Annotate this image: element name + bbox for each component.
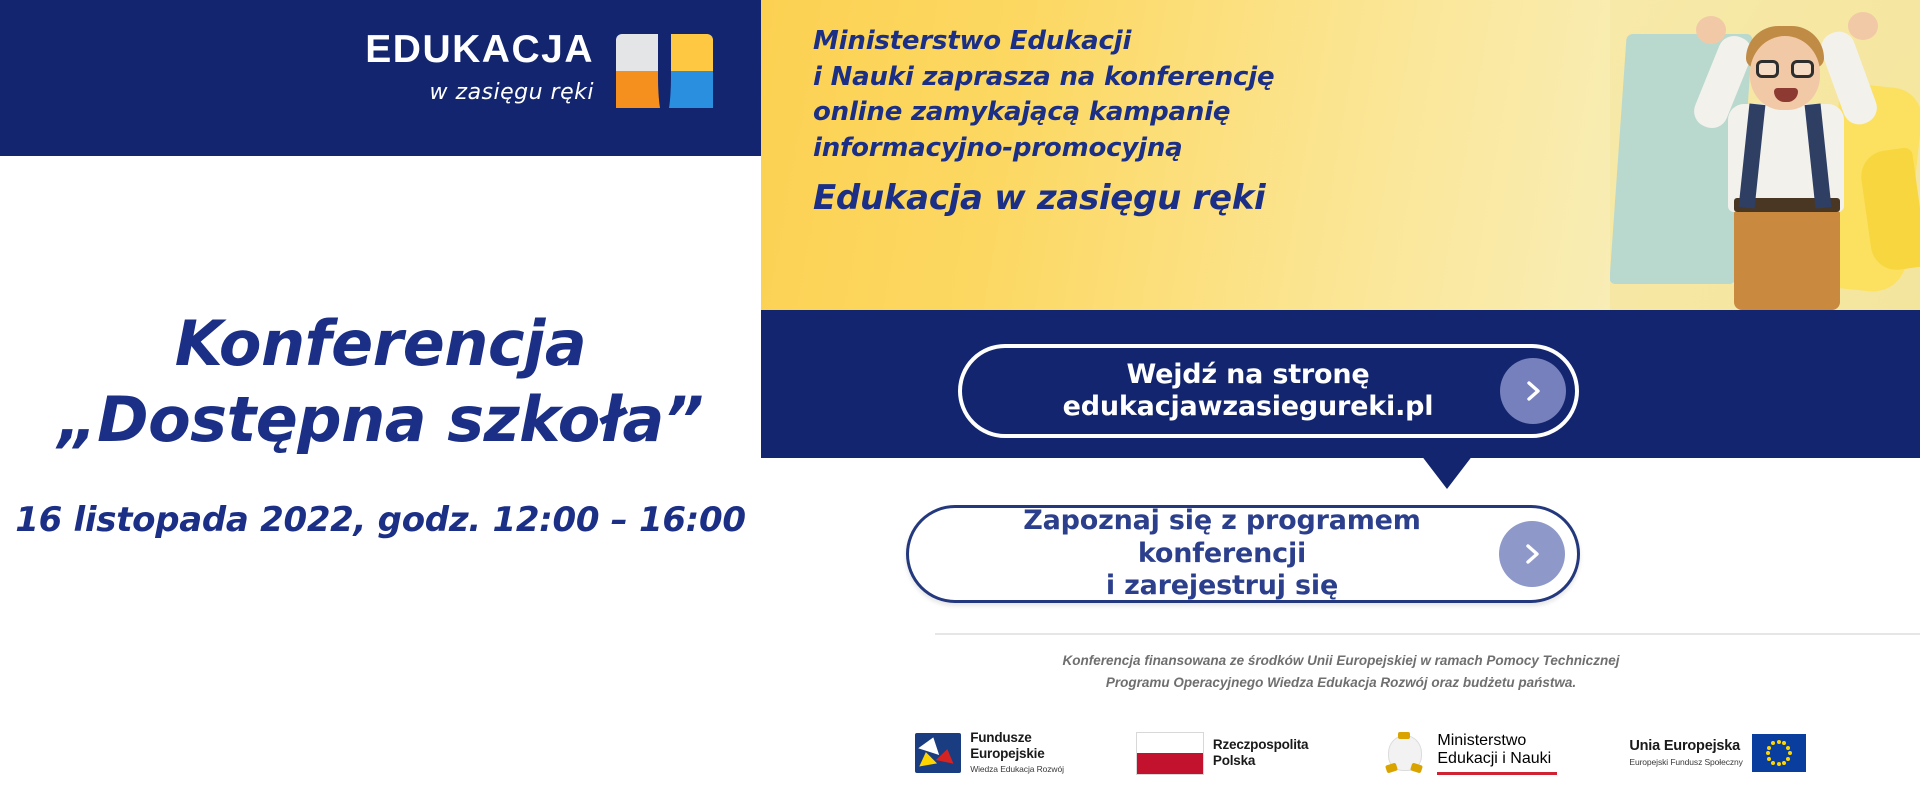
speech-bubble-tail <box>1421 455 1473 489</box>
polish-eagle-icon <box>1380 731 1428 775</box>
program-label-line-2: i zarejestruj się <box>1106 570 1338 601</box>
logo-fundusze-europejskie: Fundusze Europejskie Wiedza Edukacja Roz… <box>915 730 1064 775</box>
logo-unia-europejska: Unia Europejska Europejski Fundusz Społe… <box>1629 734 1805 772</box>
ue-label-line-1: Unia Europejska <box>1629 738 1742 755</box>
logo-subtitle: w zasięgu ręki <box>430 80 594 105</box>
fundusze-europejskie-icon <box>915 733 961 773</box>
men-label-line-1: Ministerstwo <box>1437 732 1557 750</box>
logo-rzeczpospolita-polska: Rzeczpospolita Polska <box>1136 732 1308 775</box>
brand-header-bar: EDUKACJA w zasięgu ręki <box>0 0 761 156</box>
visit-site-label-line-2: edukacjawzasiegureki.pl <box>1063 391 1434 422</box>
banner-line-2: i Nauki zaprasza na konferencję <box>813 60 1453 96</box>
visit-site-button-label: Wejdź na stronę edukacjawzasiegureki.pl <box>962 359 1500 424</box>
banner-line-1: Ministerstwo Edukacji <box>813 24 1453 60</box>
primary-cta-band: Wejdź na stronę edukacjawzasiegureki.pl <box>761 310 1920 458</box>
open-book-icon <box>616 34 713 112</box>
fe-label-line-3: Wiedza Edukacja Rozwój <box>970 764 1064 775</box>
edukacja-logo: EDUKACJA w zasięgu ręki <box>365 30 713 112</box>
right-panel: Ministerstwo Edukacji i Nauki zaprasza n… <box>761 0 1920 810</box>
rp-label-line-1: Rzeczpospolita <box>1213 737 1308 753</box>
fe-label-line-1: Fundusze <box>970 730 1064 746</box>
campaign-banner: Ministerstwo Edukacji i Nauki zaprasza n… <box>761 0 1920 310</box>
page-title: Konferencja „Dostępna szkoła” <box>58 306 704 457</box>
banner-line-3: online zamykającą kampanię <box>813 95 1453 131</box>
chevron-right-icon[interactable] <box>1499 521 1565 587</box>
banner-slogan: Edukacja w zasięgu ręki <box>813 179 1453 218</box>
banner-text-block: Ministerstwo Edukacji i Nauki zaprasza n… <box>813 24 1453 219</box>
rp-label-line-2: Polska <box>1213 753 1308 769</box>
divider <box>935 633 1920 635</box>
conference-title-line-1: Konferencja <box>175 307 587 380</box>
funding-note-line-1: Konferencja finansowana ze środków Unii … <box>1063 653 1620 668</box>
men-label-line-2: Edukacji i Nauki <box>1437 750 1557 768</box>
logo-title: EDUKACJA <box>365 30 594 69</box>
ue-label-line-3: Europejski Fundusz Społeczny <box>1629 757 1742 768</box>
funding-note: Konferencja finansowana ze środków Unii … <box>881 650 1801 695</box>
funding-note-line-2: Programu Operacyjnego Wiedza Edukacja Ro… <box>1106 675 1576 690</box>
visit-site-label-line-1: Wejdź na stronę <box>1126 359 1369 390</box>
program-registration-button[interactable]: Zapoznaj się z programem konferencji i z… <box>906 505 1580 603</box>
polish-flag-icon <box>1136 732 1204 775</box>
left-panel: EDUKACJA w zasięgu ręki Konferencja „Dos… <box>0 0 761 810</box>
conference-date: 16 listopada 2022, godz. 12:00 – 16:00 <box>15 500 745 540</box>
program-registration-button-label: Zapoznaj się z programem konferencji i z… <box>909 505 1499 602</box>
eu-flag-icon <box>1752 734 1806 772</box>
left-content: Konferencja „Dostępna szkoła” 16 listopa… <box>0 156 761 810</box>
visit-site-button[interactable]: Wejdź na stronę edukacjawzasiegureki.pl <box>958 344 1579 438</box>
funding-logo-row: Fundusze Europejskie Wiedza Edukacja Roz… <box>761 718 1920 788</box>
promo-graphic: EDUKACJA w zasięgu ręki Konferencja „Dos… <box>0 0 1920 810</box>
banner-line-4: informacyjno-promocyjną <box>813 131 1453 167</box>
conference-title-line-2: „Dostępna szkoła” <box>58 383 704 456</box>
logo-wordmark: EDUKACJA w zasięgu ręki <box>365 30 594 105</box>
chevron-right-icon[interactable] <box>1500 358 1566 424</box>
fe-label-line-2: Europejskie <box>970 746 1064 762</box>
logo-ministerstwo-edukacji-i-nauki: Ministerstwo Edukacji i Nauki <box>1380 731 1557 775</box>
program-label-line-1: Zapoznaj się z programem konferencji <box>1023 505 1420 568</box>
men-underline <box>1437 772 1557 775</box>
schoolboy-photo <box>1610 0 1920 310</box>
